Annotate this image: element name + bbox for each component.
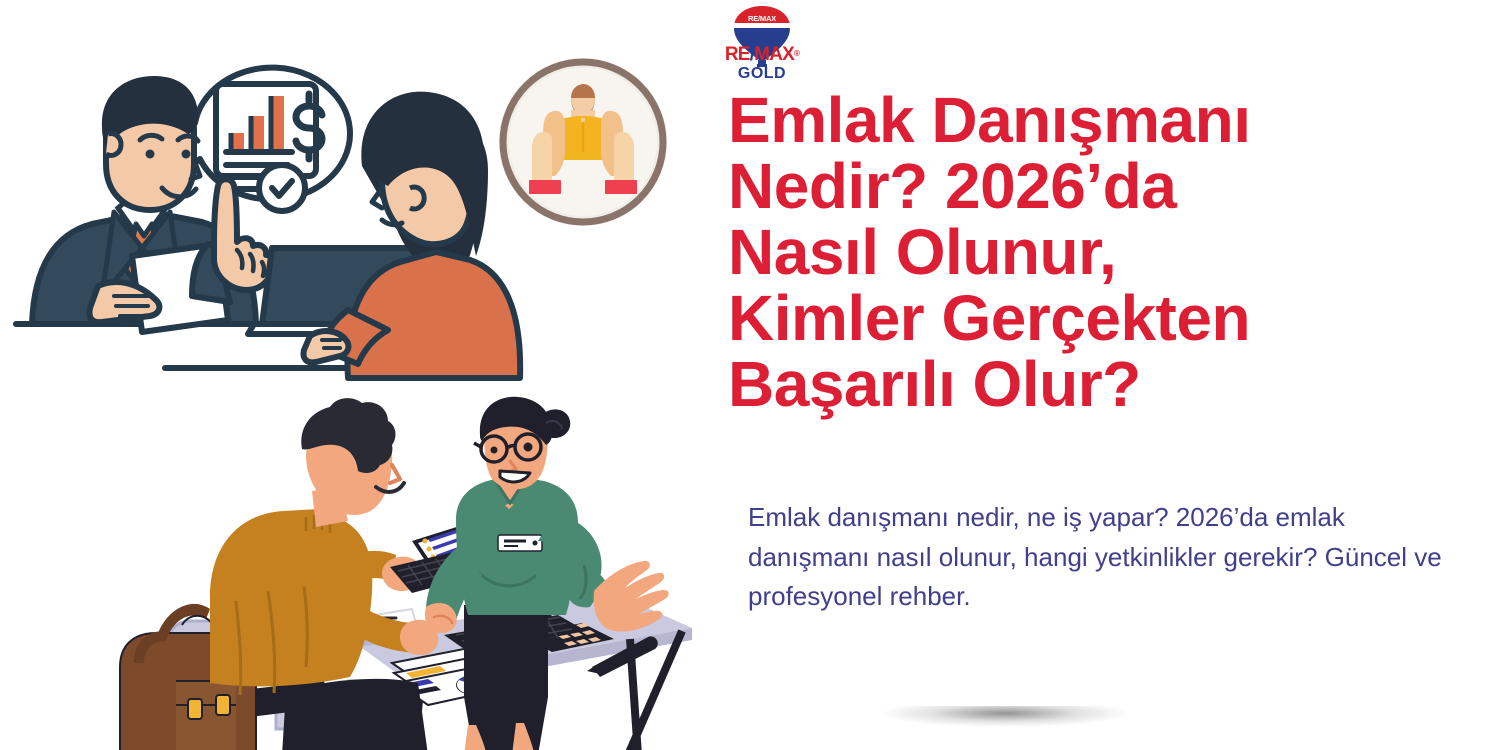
page-subtitle: Emlak danışmanı nedir, ne iş yapar? 2026… xyxy=(748,498,1448,617)
office-desk-illustration xyxy=(90,395,730,750)
drop-shadow-ellipse xyxy=(845,706,1165,742)
poster-canvas: RE/MAX RE/MAX® GOLD Emlak Danışmanı Nedi… xyxy=(0,0,1500,750)
client-care-badge xyxy=(497,56,669,228)
balloon-wordmark: RE/MAX xyxy=(748,14,776,23)
check-circle-icon xyxy=(259,165,305,211)
gold-wordmark: GOLD xyxy=(738,65,786,82)
name-badge xyxy=(498,535,542,551)
remax-gold-logo[interactable]: RE/MAX RE/MAX® GOLD xyxy=(708,2,816,82)
remax-wordmark: RE/MAX® xyxy=(725,44,800,65)
page-title: Emlak Danışmanı Nedir? 2026’da Nasıl Olu… xyxy=(728,88,1488,418)
